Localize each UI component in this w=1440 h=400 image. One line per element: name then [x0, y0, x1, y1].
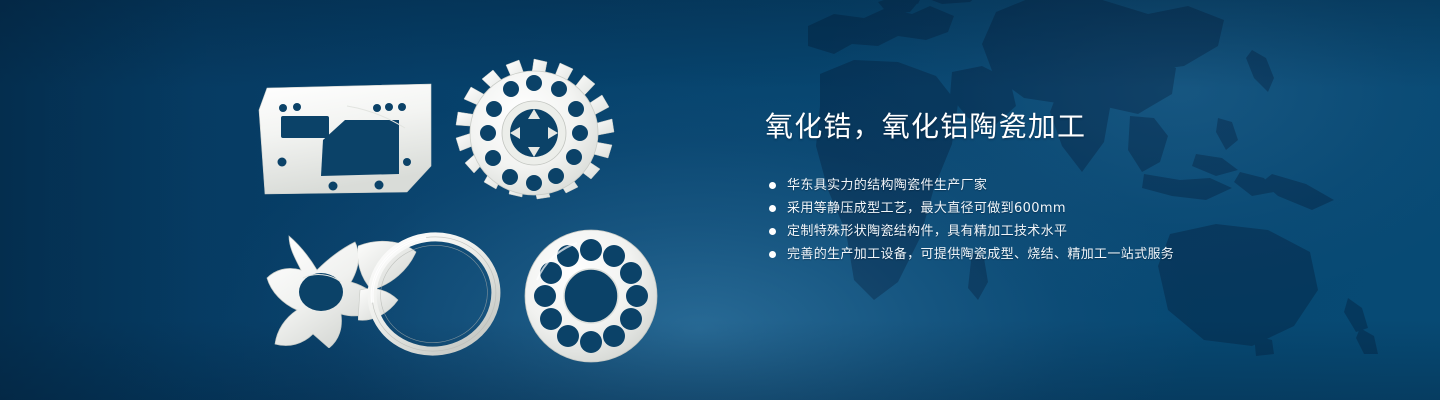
- ceramic-perforated-disc: [523, 228, 659, 364]
- page-title: 氧化锆，氧化铝陶瓷加工: [765, 108, 1325, 146]
- bullet-dot-icon: [769, 205, 776, 212]
- list-item-label: 华东具实力的结构陶瓷件生产厂家: [787, 174, 987, 197]
- ceramic-plate: [255, 82, 435, 197]
- list-item: 定制特殊形状陶瓷结构件，具有精加工技术水平: [765, 220, 1325, 243]
- list-item: 华东具实力的结构陶瓷件生产厂家: [765, 174, 1325, 197]
- bullet-dot-icon: [769, 251, 776, 258]
- list-item-label: 采用等静压成型工艺，最大直径可做到600mm: [787, 197, 1066, 220]
- list-item: 完善的生产加工设备，可提供陶瓷成型、烧结、精加工一站式服务: [765, 243, 1325, 266]
- bullet-dot-icon: [769, 228, 776, 235]
- banner-copy: 氧化锆，氧化铝陶瓷加工 华东具实力的结构陶瓷件生产厂家 采用等静压成型工艺，最大…: [765, 108, 1325, 266]
- list-item-label: 定制特殊形状陶瓷结构件，具有精加工技术水平: [787, 220, 1067, 243]
- feature-list: 华东具实力的结构陶瓷件生产厂家 采用等静压成型工艺，最大直径可做到600mm 定…: [765, 174, 1325, 266]
- promo-banner: 氧化锆，氧化铝陶瓷加工 华东具实力的结构陶瓷件生产厂家 采用等静压成型工艺，最大…: [0, 0, 1440, 400]
- list-item: 采用等静压成型工艺，最大直径可做到600mm: [765, 197, 1325, 220]
- bullet-dot-icon: [769, 182, 776, 189]
- ceramic-impeller: [448, 55, 620, 220]
- list-item-label: 完善的生产加工设备，可提供陶瓷成型、烧结、精加工一站式服务: [787, 243, 1174, 266]
- ceramic-ring: [358, 228, 504, 358]
